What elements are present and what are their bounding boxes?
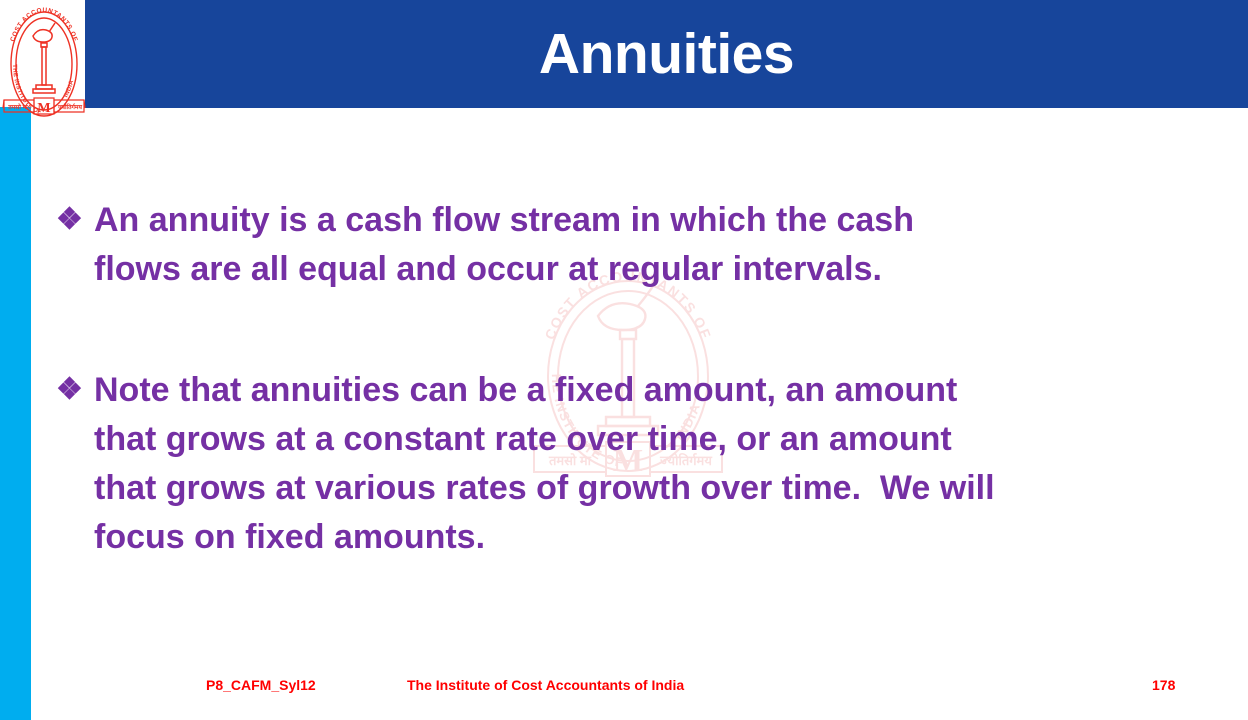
slide-footer: P8_CAFM_Syl12 The Institute of Cost Acco… (0, 674, 1248, 700)
svg-text:M: M (37, 101, 50, 116)
bullet-line: An annuity is a cash flow stream in whic… (94, 201, 914, 239)
bullet-line: that grows at various rates of growth ov… (94, 469, 995, 507)
bullet-text: An annuity is a cash flow stream in whic… (94, 196, 1206, 294)
svg-text:ज्योतिर्गमय: ज्योतिर्गमय (57, 103, 82, 111)
institute-logo: COST ACCOUNTANTS OF THE INSTITUTE OF IND… (2, 2, 86, 120)
footer-subject-code: P8_CAFM_Syl12 (206, 677, 316, 693)
page-title: Annuities (85, 0, 1248, 108)
bullet-line: flows are all equal and occur at regular… (94, 250, 882, 288)
bullet-spacer (56, 294, 1206, 366)
diamond-bullet-icon: ❖ (56, 366, 94, 413)
slide-canvas: Annuities COST ACCOUNTANTS OF THE INSTIT… (0, 0, 1248, 720)
diamond-bullet-icon: ❖ (56, 196, 94, 243)
slide-body: ❖ An annuity is a cash flow stream in wh… (56, 196, 1206, 562)
bullet-item: ❖ Note that annuities can be a fixed amo… (56, 366, 1206, 562)
bullet-text: Note that annuities can be a fixed amoun… (94, 366, 1206, 562)
footer-organization: The Institute of Cost Accountants of Ind… (407, 677, 684, 693)
bullet-line: that grows at a constant rate over time,… (94, 420, 952, 458)
bullet-item: ❖ An annuity is a cash flow stream in wh… (56, 196, 1206, 294)
bullet-line: focus on fixed amounts. (94, 518, 485, 556)
svg-text:COST ACCOUNTANTS OF: COST ACCOUNTANTS OF (9, 7, 78, 43)
left-accent-bar (0, 107, 31, 720)
footer-page-number: 178 (1152, 677, 1175, 693)
svg-text:तमसो मा: तमसो मा (7, 103, 28, 111)
bullet-line: Note that annuities can be a fixed amoun… (94, 371, 957, 409)
